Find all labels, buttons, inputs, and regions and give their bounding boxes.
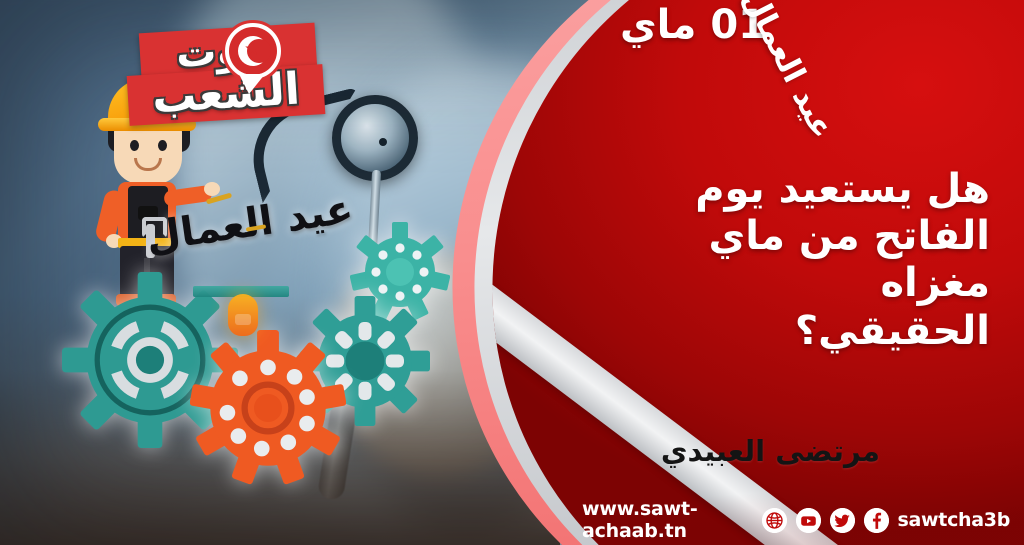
worker-eye-right [158,140,167,151]
author-name: مرتضى العبيدي [661,434,880,468]
footer-bar: sawtcha3b [560,503,1024,537]
brand-logo[interactable]: صوت الشعب ★ [128,6,328,128]
worker-head [114,122,182,184]
social-handle[interactable]: sawtcha3b [898,509,1011,531]
headline: هل يستعيد يوم الفاتح من ماي مغزاه الحقيق… [690,166,990,355]
logo-word-achaab: الشعب [127,62,326,126]
poster-canvas: عيد العمال [0,0,1024,545]
globe-icon[interactable] [762,508,787,533]
speech-bubble-icon: ★ [222,20,284,82]
youtube-icon[interactable] [796,508,821,533]
lightbulb-icon [228,294,258,336]
tunisian-flag-crescent-star-icon: ★ [229,27,277,75]
gear-orange [190,330,346,486]
facebook-icon[interactable] [864,508,889,533]
twitter-icon[interactable] [830,508,855,533]
worker-eye-left [130,140,139,151]
website-url[interactable]: www.sawt-achaab.tn [582,498,753,542]
